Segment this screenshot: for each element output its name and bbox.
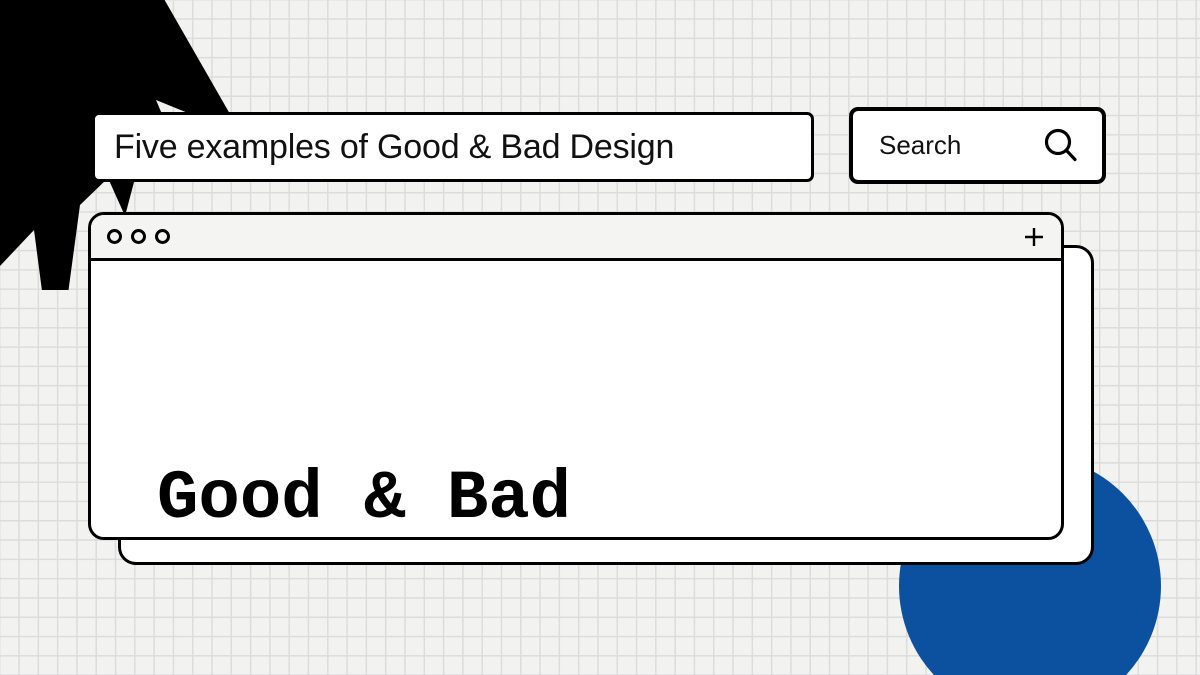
slide-subtitle-pill: Five examples of Good & Bad Design <box>92 112 814 182</box>
traffic-light-group <box>107 229 170 244</box>
headline-line-1: Good & Bad <box>157 455 1061 540</box>
slide-canvas: Good & Bad Designs Around Me Five exampl… <box>0 0 1200 675</box>
browser-window: Good & Bad Designs Around Me <box>88 212 1064 540</box>
minimize-dot-icon[interactable] <box>131 229 146 244</box>
close-dot-icon[interactable] <box>107 229 122 244</box>
search-icon[interactable] <box>1041 126 1081 166</box>
plus-icon[interactable] <box>1021 224 1047 250</box>
window-content-area: Good & Bad Designs Around Me <box>91 261 1061 540</box>
search-box[interactable] <box>849 107 1106 184</box>
maximize-dot-icon[interactable] <box>155 229 170 244</box>
search-input[interactable] <box>879 130 1029 161</box>
window-titlebar <box>91 215 1061 261</box>
page-title: Good & Bad Designs Around Me <box>157 277 1061 540</box>
slide-subtitle-text: Five examples of Good & Bad Design <box>114 128 674 167</box>
